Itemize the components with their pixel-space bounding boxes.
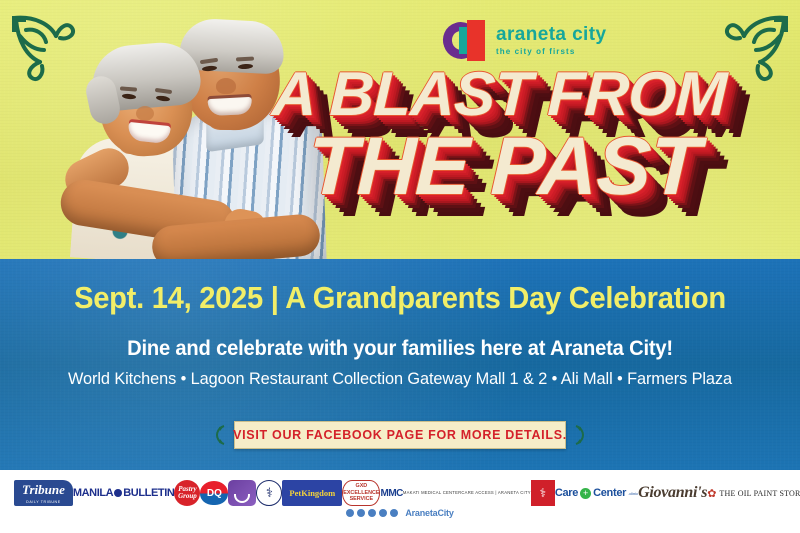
taco-bell-icon [228,480,256,506]
sponsor-logo-pet-kingdom[interactable]: Pet Kingdom [282,480,342,506]
sponsor-logo-dairy-queen[interactable]: DQ [200,480,228,506]
event-title: A BLAST FROM THE PAST [272,66,792,205]
medical-red-icon: ⚕ [531,480,555,506]
promotional-poster: araneta city the city of firsts A BLAST … [0,0,800,533]
pet-name2: Kingdom [301,489,335,498]
hero-section: araneta city the city of firsts A BLAST … [0,0,800,259]
mmc-sub: MAKATI MEDICAL CENTER [403,491,462,496]
mmc-sub2: CARE ACCESS | ARANETA CITY [461,491,530,496]
cta-label: VISIT OUR FACEBOOK PAGE FOR MORE DETAILS… [233,428,567,442]
care-plus-icon: + [580,488,591,499]
title-line-2: THE PAST [307,128,794,205]
event-details-section: Sept. 14, 2025 | A Grandparents Day Cele… [0,259,800,470]
pet-name1: Pet [289,489,301,498]
gxd-sub: EXCELLENCE SERVICE [343,490,379,504]
caduceus-icon: ⚕ [256,480,282,506]
instagram-icon[interactable] [357,509,365,517]
sponsor-logo-giovannis[interactable]: Giovanni's [638,480,707,506]
araneta-logo-mark-icon [443,20,487,61]
mb-name1: MANILA [73,487,113,499]
care-sub: .clinic [628,491,638,496]
gxd-name: GXD [356,483,368,490]
logo-tagline: the city of firsts [496,48,606,56]
oil-name: THE OIL PAINT STORE [719,489,800,498]
venue-list: World Kitchens • Lagoon Restaurant Colle… [16,369,784,389]
care-name2: Center [593,487,626,499]
social-media-row: AranetaCity [0,508,800,518]
sponsor-logo-gxd[interactable]: GXD EXCELLENCE SERVICE [342,480,380,506]
pastry-name: Pastry Group [174,486,200,500]
paint-flower-icon: ✿ [707,487,716,500]
araneta-city-logo[interactable]: araneta city the city of firsts [443,20,606,61]
sponsor-logo-medical-red[interactable]: ⚕ [531,480,555,506]
sponsor-logo-oil-paint-store[interactable]: ✿ THE OIL PAINT STORE [707,480,800,506]
facebook-icon[interactable] [346,509,354,517]
facebook-cta-banner[interactable]: VISIT OUR FACEBOOK PAGE FOR MORE DETAILS… [234,421,566,449]
tribune-sub: DAILY TRIBUNE [22,500,65,504]
sponsor-logo-pastry-group[interactable]: Pastry Group [174,480,200,506]
sponsor-logo-medical-society[interactable]: ⚕ [256,480,282,506]
bracket-left-icon [215,425,226,445]
bracket-right-icon [574,425,585,445]
logo-name: araneta city [496,25,606,44]
sponsor-logo-taco-bell[interactable] [228,480,256,506]
event-date-headline: Sept. 14, 2025 | A Grandparents Day Cele… [24,280,776,316]
mb-name2: BULLETIN [123,487,174,499]
social-handle: AranetaCity [405,508,453,518]
sponsor-logo-care-center[interactable]: Care + Center .clinic [555,480,638,506]
sponsor-logo-manila-bulletin[interactable]: MANILABULLETIN [73,480,175,506]
event-subline: Dine and celebrate with your families he… [16,337,784,361]
sponsor-logo-makati-medical-center[interactable]: MMC MAKATI MEDICAL CENTER CARE ACCESS | … [380,480,530,506]
tribune-name: Tribune [22,482,65,497]
mmc-name: MMC [380,488,402,499]
care-name1: Care [555,487,578,499]
dq-name: DQ [200,481,228,505]
sponsor-logo-strip: Tribune DAILY TRIBUNE MANILABULLETIN Pas… [0,470,800,533]
tiktok-icon[interactable] [390,509,398,517]
youtube-icon[interactable] [379,509,387,517]
mb-dot-icon [114,489,122,497]
title-line-1: A BLAST FROM [271,66,793,124]
twitter-icon[interactable] [368,509,376,517]
sponsor-logo-tribune[interactable]: Tribune DAILY TRIBUNE [14,480,73,506]
